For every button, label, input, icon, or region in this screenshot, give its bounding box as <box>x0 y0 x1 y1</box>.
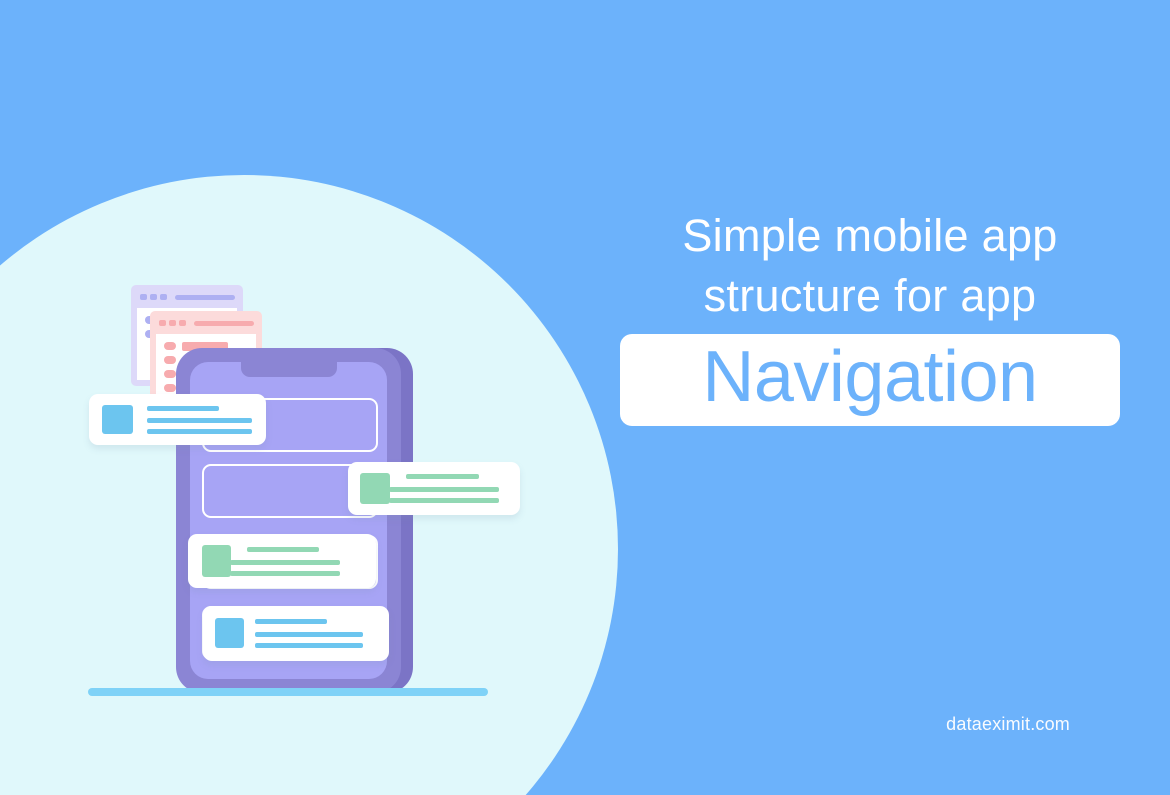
text-placeholder-line <box>147 429 252 434</box>
window-dot-icon <box>160 294 167 300</box>
text-placeholder-line <box>255 619 327 624</box>
site-watermark: dataeximit.com <box>946 714 1070 735</box>
bullet-icon <box>164 370 176 378</box>
text-placeholder-line <box>247 547 319 552</box>
text-placeholder-line <box>389 487 499 492</box>
text-placeholder-line <box>389 498 499 503</box>
poster-canvas: Simple mobile app structure for app Navi… <box>0 0 1170 795</box>
bullet-icon <box>164 356 176 364</box>
text-placeholder-line <box>230 571 340 576</box>
list-card-blue-bottom <box>203 606 389 661</box>
text-placeholder-line <box>147 406 219 411</box>
thumbnail-image <box>202 545 231 577</box>
list-card-green-mid <box>188 534 376 588</box>
headline-highlight-box: Navigation <box>620 334 1120 426</box>
text-placeholder-line <box>147 418 252 423</box>
headline-line-1: Simple mobile app <box>620 206 1120 266</box>
thumbnail-image <box>102 405 133 434</box>
window-dot-icon <box>140 294 147 300</box>
thumbnail-image <box>215 618 244 648</box>
text-placeholder-line <box>255 643 363 648</box>
browser-titlebar-pink <box>156 317 256 330</box>
headline-line-2: structure for app <box>620 266 1120 326</box>
text-placeholder-line <box>255 632 363 637</box>
browser-address-bar <box>194 321 254 326</box>
smartphone-notch <box>241 362 337 377</box>
text-placeholder-line <box>406 474 479 479</box>
window-dot-icon <box>159 320 166 326</box>
browser-titlebar-purple <box>137 291 237 304</box>
window-dot-icon <box>179 320 186 326</box>
thumbnail-image <box>360 473 390 504</box>
ground-shadow-line <box>88 688 488 696</box>
text-placeholder-line <box>230 560 340 565</box>
browser-address-bar <box>175 295 235 300</box>
window-dot-icon <box>150 294 157 300</box>
illustration-stage <box>0 0 620 795</box>
list-card-blue-top <box>89 394 266 445</box>
window-dot-icon <box>169 320 176 326</box>
headline-highlight-text: Navigation <box>702 337 1037 417</box>
bullet-icon <box>164 384 176 392</box>
headline-block: Simple mobile app structure for app Navi… <box>620 206 1120 426</box>
list-card-green-right <box>348 462 520 515</box>
bullet-icon <box>164 342 176 350</box>
